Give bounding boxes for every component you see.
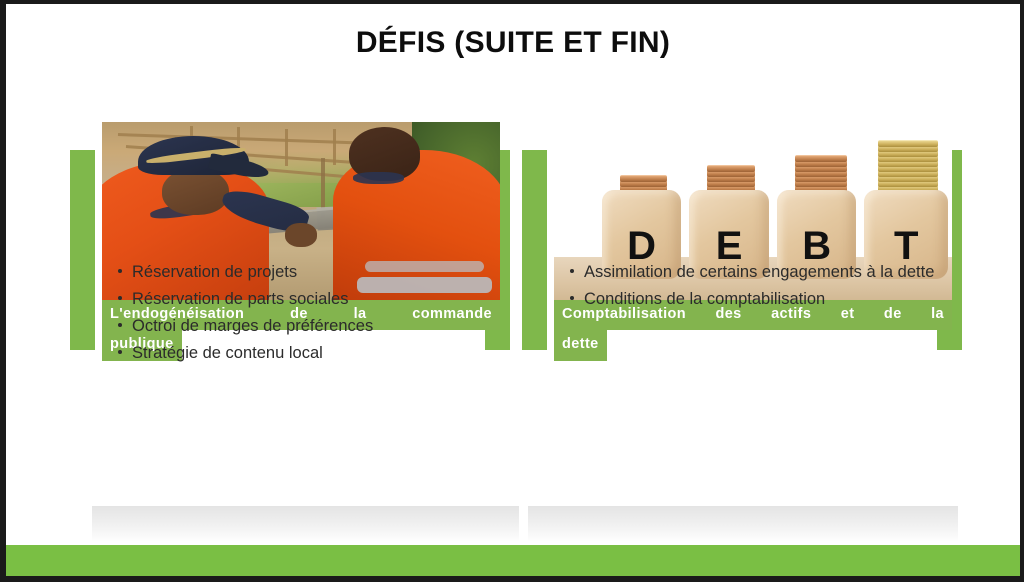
list-item: Conditions de la comptabilisation <box>570 286 978 312</box>
worker-left-face <box>162 168 230 214</box>
list-item: Stratégie de contenu local <box>118 340 508 366</box>
coin <box>620 175 668 182</box>
bullet-list-right: Assimilation de certains engagements à l… <box>522 259 978 313</box>
accent-bar-right-inner <box>522 150 547 350</box>
roof-rafter <box>285 129 288 166</box>
roof-rafter <box>333 129 336 165</box>
slide-frame: DÉFIS (SUITE ET FIN) <box>0 0 1024 582</box>
list-item: Octroi de marges de préférences <box>118 313 508 339</box>
slide-canvas: DÉFIS (SUITE ET FIN) <box>6 4 1020 576</box>
coin <box>795 155 847 162</box>
list-item: Assimilation de certains engagements à l… <box>570 259 978 285</box>
footer-band <box>6 545 1020 576</box>
worker-hand <box>285 223 317 246</box>
worker-right-collar <box>353 172 405 184</box>
placeholder-bar-right <box>528 506 958 542</box>
list-item: Réservation de projets <box>118 259 508 285</box>
page-title: DÉFIS (SUITE ET FIN) <box>6 26 1020 60</box>
coin-stack-4 <box>878 135 938 197</box>
placeholder-bar-left <box>92 506 519 542</box>
caption-right-line2: dette <box>554 330 607 360</box>
coin <box>878 140 938 147</box>
coin <box>707 165 755 172</box>
bullet-list-left: Réservation de projets Réservation de pa… <box>70 259 508 367</box>
list-item: Réservation de parts sociales <box>118 286 508 312</box>
